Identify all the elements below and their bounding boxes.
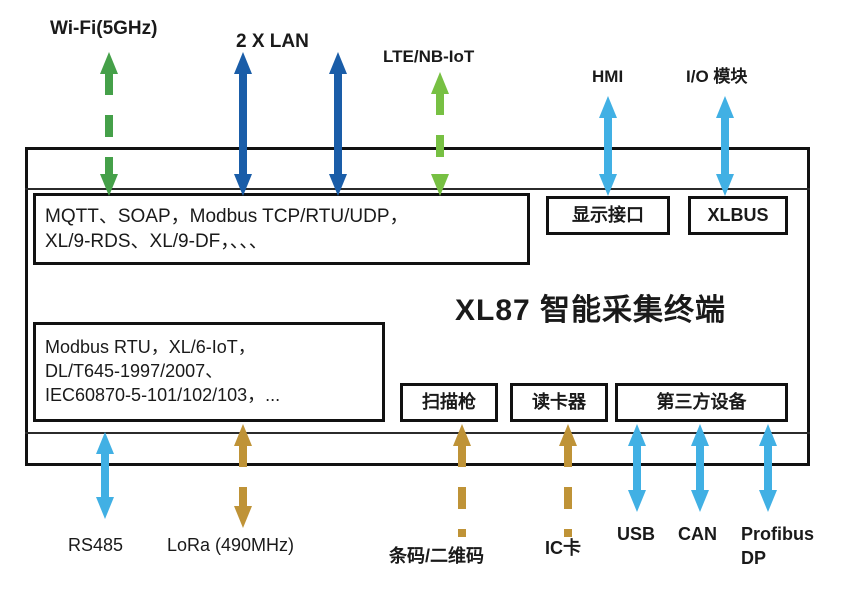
- interface-label-profibus_dp: DP: [741, 548, 766, 569]
- box-card-reader-label: 读卡器: [513, 393, 605, 413]
- lan1-arrow-head-up: [234, 52, 252, 74]
- interface-label-lora: LoRa (490MHz): [167, 535, 294, 556]
- box-display-interface-label: 显示接口: [549, 206, 667, 226]
- box-xlbus: XLBUS: [688, 196, 788, 235]
- interface-label-iccard: IC卡: [545, 538, 581, 559]
- lan2-arrow-head-up: [329, 52, 347, 74]
- box-xlbus-label: XLBUS: [691, 206, 785, 226]
- box-southbound-protocols-label: Modbus RTU，XL/6-IoT，DL/T645-1997/2007、IE…: [36, 336, 382, 407]
- box-display-interface: 显示接口: [546, 196, 670, 235]
- diagram-canvas: XL87 智能采集终端 Wi-Fi(5GHz)2 X LANLTE/NB-IoT…: [0, 0, 865, 613]
- box-scanner-label: 扫描枪: [403, 393, 495, 413]
- can-arrow-head-down: [691, 490, 709, 512]
- chassis-divider-top: [25, 188, 810, 190]
- lte-arrow-head-up: [431, 72, 449, 94]
- box-card-reader: 读卡器: [510, 383, 608, 422]
- interface-label-lan: 2 X LAN: [236, 31, 309, 53]
- interface-label-profibus: Profibus: [741, 524, 814, 545]
- interface-label-io: I/O 模块: [686, 67, 747, 87]
- box-third-party-device-label: 第三方设备: [618, 393, 785, 413]
- io-arrow-head-up: [716, 96, 734, 118]
- interface-label-lte: LTE/NB-IoT: [383, 47, 474, 67]
- interface-label-rs485: RS485: [68, 535, 123, 556]
- box-third-party-device: 第三方设备: [615, 383, 788, 422]
- box-scanner: 扫描枪: [400, 383, 498, 422]
- interface-label-hmi: HMI: [592, 67, 623, 87]
- wifi-arrow-head-up: [100, 52, 118, 74]
- box-northbound-protocols: MQTT、SOAP，Modbus TCP/RTU/UDP，XL/9-RDS、XL…: [33, 193, 530, 265]
- usb-arrow-head-down: [628, 490, 646, 512]
- interface-label-wifi: Wi-Fi(5GHz): [50, 18, 157, 40]
- hmi-arrow-head-up: [599, 96, 617, 118]
- profibus-arrow-head-down: [759, 490, 777, 512]
- box-northbound-protocols-label: MQTT、SOAP，Modbus TCP/RTU/UDP，XL/9-RDS、XL…: [36, 204, 527, 254]
- box-southbound-protocols: Modbus RTU，XL/6-IoT，DL/T645-1997/2007、IE…: [33, 322, 385, 422]
- rs485-arrow-head-down: [96, 497, 114, 519]
- interface-label-can: CAN: [678, 524, 717, 545]
- lora-arrow-head-down: [234, 506, 252, 528]
- interface-label-barcode: 条码/二维码: [389, 546, 484, 567]
- interface-label-usb: USB: [617, 524, 655, 545]
- chassis-divider-bottom: [25, 432, 810, 434]
- page-title: XL87 智能采集终端: [455, 285, 726, 329]
